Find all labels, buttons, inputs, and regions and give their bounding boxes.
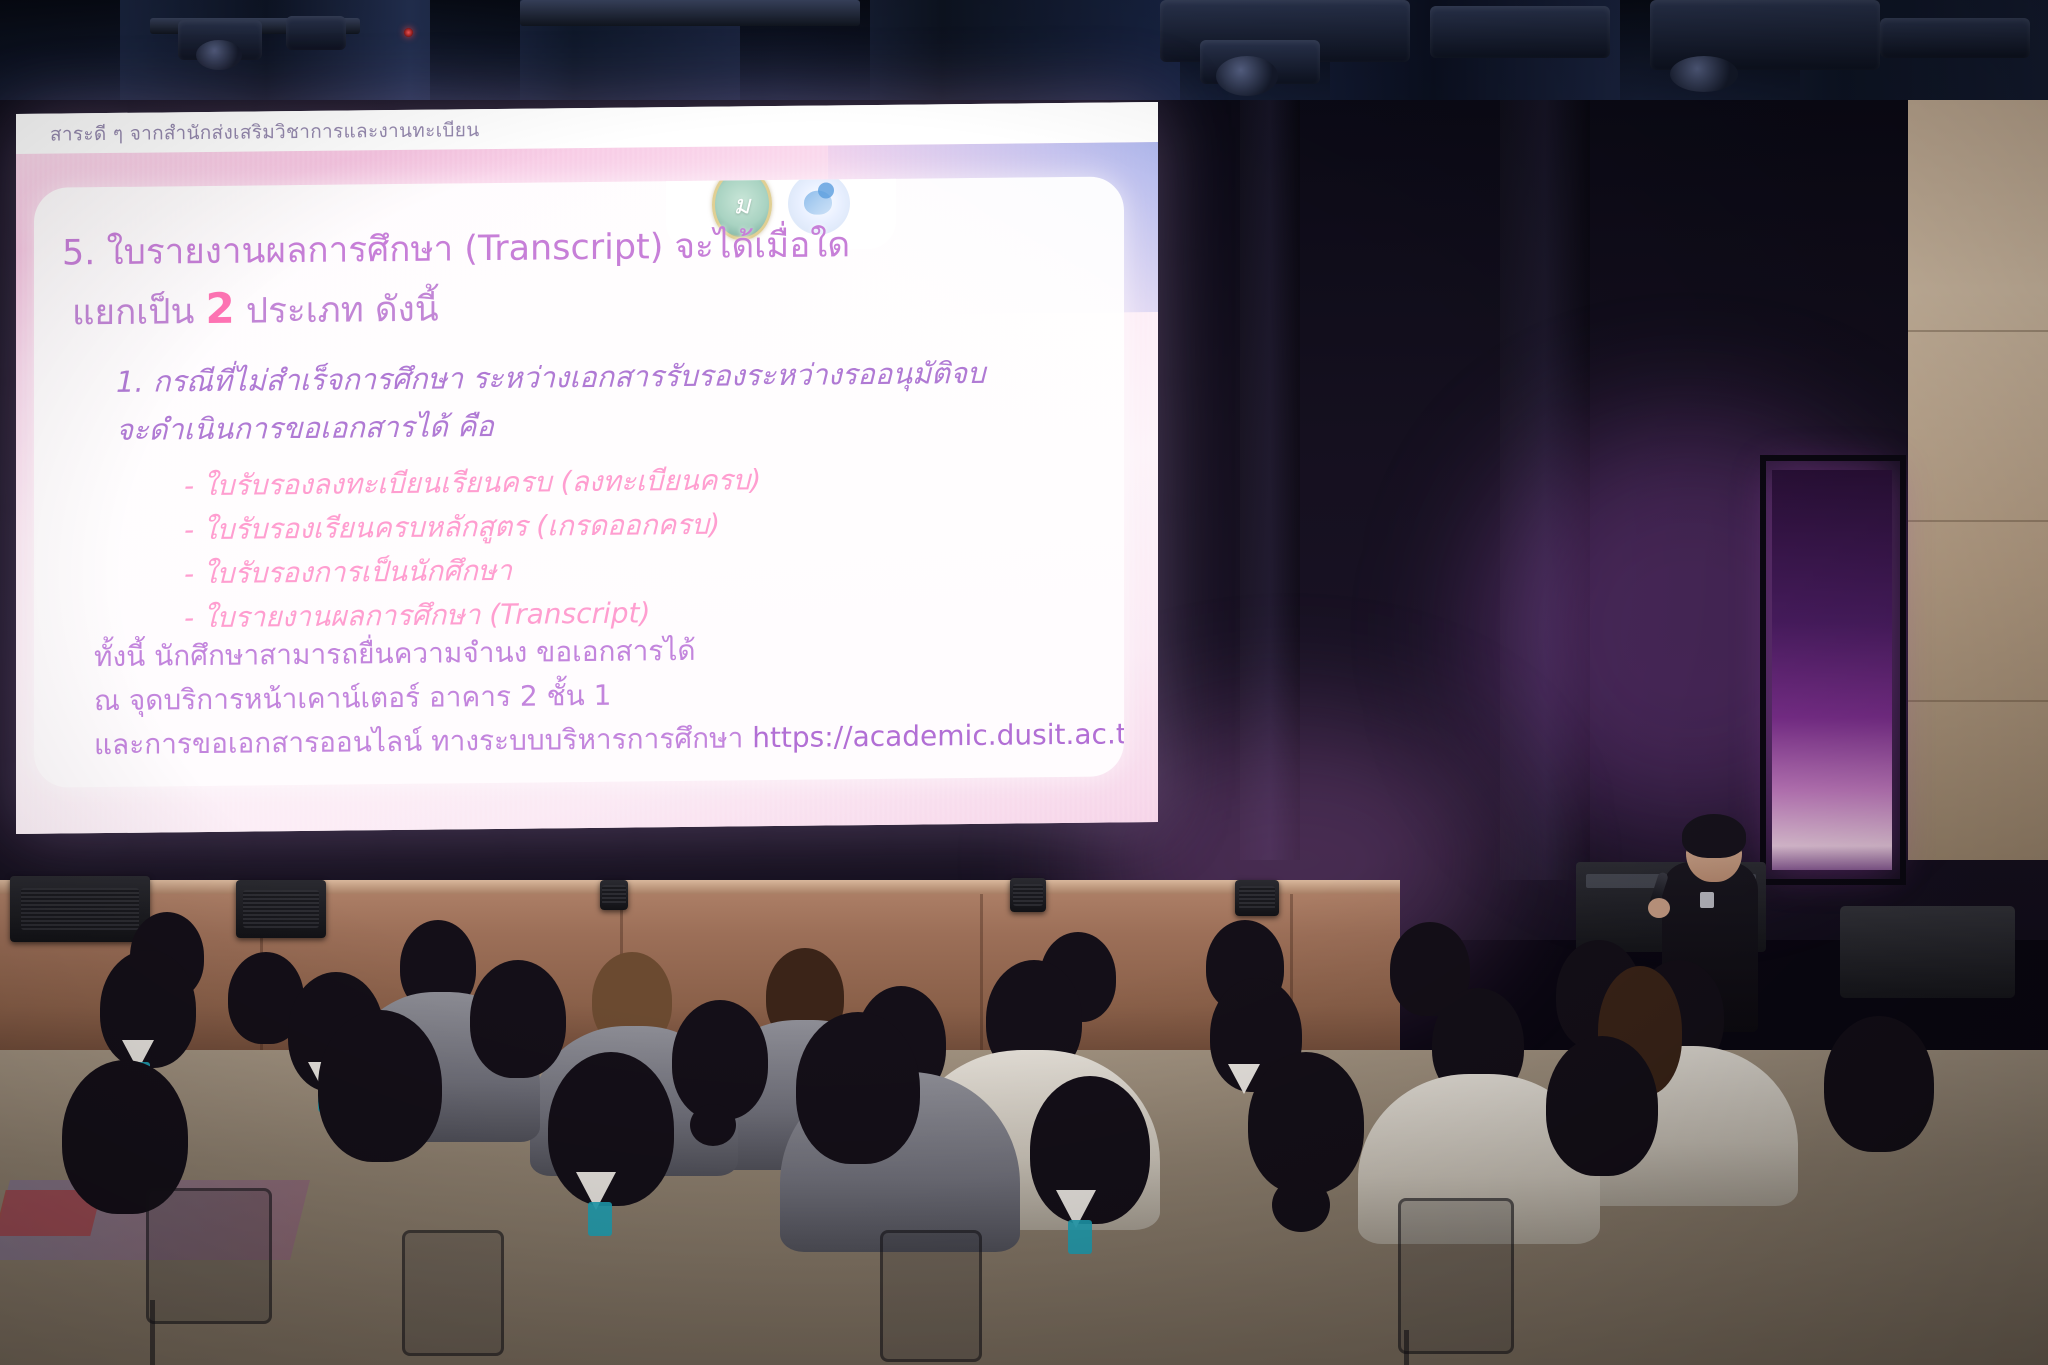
wood-seam bbox=[1908, 700, 2048, 702]
lighting-truss bbox=[520, 0, 860, 26]
slide-footer-line-1: ทั้งนี้ นักศึกษาสามารถยื่นความจำนง ขอเอก… bbox=[94, 629, 696, 679]
wood-seam bbox=[1908, 520, 2048, 522]
auditorium-scene: สาระดี ๆ จากสำนักส่งเสริมวิชาการและงานทะ… bbox=[0, 0, 2048, 1365]
stage-monitor-speaker bbox=[236, 880, 326, 938]
subtitle-count: 2 bbox=[206, 284, 235, 333]
ceiling-speaker bbox=[1430, 6, 1610, 58]
footer-prefix-text: และการขอเอกสารออนไลน์ ทางระบบบริหารการศึ… bbox=[94, 721, 752, 761]
slide-bullet-item: - ใบรับรองเรียนครบหลักสูตร (เกรดออกครบ) bbox=[184, 503, 720, 553]
stage-light-lens bbox=[196, 40, 242, 70]
presenter-hand bbox=[1648, 898, 1670, 918]
presentation-header-text: สาระดี ๆ จากสำนักส่งเสริมวิชาการและงานทะ… bbox=[50, 115, 480, 149]
audience-chair bbox=[880, 1230, 982, 1362]
chair-leg bbox=[1404, 1330, 1409, 1365]
side-display-frame bbox=[1760, 455, 1906, 885]
slide-footer-line-2: ณ จุดบริการหน้าเคาน์เตอร์ อาคาร 2 ชั้น 1 bbox=[94, 674, 612, 723]
stage-equipment bbox=[600, 880, 628, 910]
audience-chair bbox=[146, 1188, 272, 1324]
presenter-name-badge bbox=[1700, 892, 1714, 908]
wall-pillar bbox=[1240, 100, 1300, 860]
audience-chair bbox=[402, 1230, 504, 1356]
slide-subtitle: แยกเป็น 2 ประเภท ดังนี้ bbox=[72, 282, 439, 341]
projector-lens bbox=[1216, 56, 1278, 96]
floor-monitor bbox=[1840, 906, 2015, 998]
ceiling-beam bbox=[0, 0, 120, 112]
necktie bbox=[1068, 1220, 1092, 1254]
subtitle-suffix: ประเภท ดังนี้ bbox=[246, 290, 439, 332]
slide-text-block: 5. ใบรายงานผลการศึกษา (Transcript) จะได้… bbox=[34, 176, 1124, 787]
slide-bullet-item: - ใบรับรองการเป็นนักศึกษา bbox=[184, 549, 512, 596]
academic-portal-url[interactable]: https://academic.dusit.ac.th/ bbox=[752, 717, 1124, 754]
subtitle-prefix: แยกเป็น bbox=[72, 292, 194, 333]
wood-wall-panel bbox=[1908, 100, 2048, 860]
slide-bullet-item: - ใบรับรองลงทะเบียนเรียนครบ (ลงทะเบียนคร… bbox=[184, 458, 761, 508]
slide-surface: ม 5. ใบรายงานผลการศึกษา (Transcript) จะไ… bbox=[16, 142, 1158, 834]
indicator-light bbox=[404, 28, 413, 37]
stage-light bbox=[286, 16, 346, 50]
slide-paragraph-line-1: 1. กรณีที่ไม่สำเร็จการศึกษา ระหว่างเอกสา… bbox=[116, 350, 985, 405]
chair-leg bbox=[150, 1300, 155, 1365]
ceiling-fixture bbox=[1880, 18, 2030, 58]
stage-equipment bbox=[1235, 880, 1279, 916]
projection-screen: สาระดี ๆ จากสำนักส่งเสริมวิชาการและงานทะ… bbox=[16, 102, 1158, 834]
presenter-hair bbox=[1682, 814, 1746, 858]
audience-chair bbox=[1398, 1198, 1514, 1354]
stage-equipment bbox=[1010, 878, 1046, 912]
wood-seam bbox=[1908, 330, 2048, 332]
stage-edge bbox=[0, 880, 1400, 894]
stage-panel-seam bbox=[980, 894, 983, 1060]
slide-title: 5. ใบรายงานผลการศึกษา (Transcript) จะได้… bbox=[62, 217, 850, 280]
wall-pillar bbox=[1500, 100, 1590, 880]
necktie bbox=[588, 1202, 612, 1236]
ceiling-beam bbox=[430, 0, 520, 112]
ceiling-speaker-cone bbox=[1670, 56, 1738, 92]
slide-paragraph-line-2: จะดำเนินการขอเอกสารได้ คือ bbox=[116, 403, 494, 453]
slide-content-card: ม 5. ใบรายงานผลการศึกษา (Transcript) จะไ… bbox=[34, 176, 1124, 787]
stage-monitor-speaker bbox=[10, 876, 150, 942]
